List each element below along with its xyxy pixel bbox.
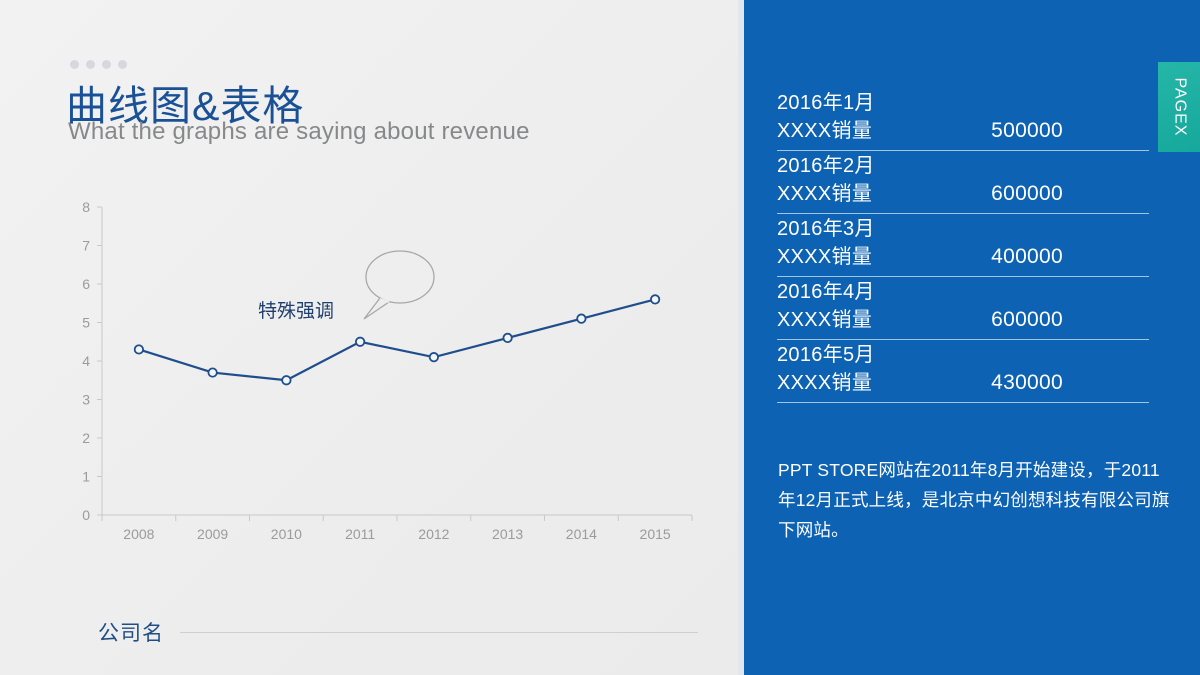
slide-canvas: 曲线图&表格 What the graphs are saying about …	[0, 0, 1200, 675]
data-point-marker	[282, 376, 290, 384]
table-row-body: XXXX销量600000	[777, 306, 1149, 334]
x-axis-tick-label: 2008	[123, 526, 154, 542]
table-row-body: XXXX销量500000	[777, 117, 1149, 145]
table-row-month: 2016年2月	[777, 153, 1149, 180]
table-row-label: XXXX销量	[777, 180, 872, 208]
table-row-month: 2016年3月	[777, 216, 1149, 243]
data-point-marker	[503, 334, 511, 342]
x-axis-tick-label: 2011	[345, 526, 375, 542]
table-row-value: 430000	[991, 369, 1063, 397]
dot-icon	[102, 60, 111, 69]
table-row-month: 2016年4月	[777, 279, 1149, 306]
y-axis-tick-label: 8	[82, 199, 90, 215]
dot-icon	[86, 60, 95, 69]
data-point-marker	[577, 314, 585, 322]
y-axis-tick-label: 0	[82, 507, 90, 523]
data-point-marker	[135, 345, 143, 353]
table-row-label: XXXX销量	[777, 306, 872, 334]
table-row-body: XXXX销量600000	[777, 180, 1149, 208]
table-row-month: 2016年5月	[777, 342, 1149, 369]
left-content-panel: 曲线图&表格 What the graphs are saying about …	[0, 0, 744, 675]
x-axis-tick-label: 2015	[640, 526, 671, 542]
company-name: 公司名	[98, 617, 164, 647]
chart-annotation-label: 特殊强调	[258, 300, 334, 322]
data-point-marker	[651, 295, 659, 303]
y-axis-tick-label: 3	[82, 392, 90, 408]
y-axis-tick-label: 7	[82, 238, 90, 254]
chart-svg: 012345678 200820092010201120122013201420…	[62, 195, 702, 545]
series-markers	[135, 295, 660, 384]
description-paragraph: PPT STORE网站在2011年8月开始建设，于2011年12月正式上线，是北…	[778, 455, 1170, 545]
x-axis-tick-label: 2012	[418, 526, 449, 542]
table-row: 2016年2月XXXX销量600000	[777, 151, 1149, 214]
table-row: 2016年1月XXXX销量500000	[777, 88, 1149, 151]
y-axis-tick-label: 1	[82, 469, 90, 485]
right-blue-panel: PAGEX 2016年1月XXXX销量5000002016年2月XXXX销量60…	[744, 0, 1200, 675]
table-row: 2016年4月XXXX销量600000	[777, 277, 1149, 340]
table-row-value: 600000	[991, 180, 1063, 208]
table-row-value: 600000	[991, 306, 1063, 334]
x-axis-tick-label: 2014	[566, 526, 597, 542]
data-point-marker	[430, 353, 438, 361]
page-subtitle: What the graphs are saying about revenue	[68, 118, 530, 146]
dot-icon	[118, 60, 127, 69]
y-axis-tick-label: 5	[82, 315, 90, 331]
table-row-label: XXXX销量	[777, 243, 872, 271]
x-axis-tick-label: 2010	[271, 526, 302, 542]
table-row-value: 400000	[991, 243, 1063, 271]
table-row-body: XXXX销量430000	[777, 369, 1149, 397]
decorative-dots	[70, 60, 127, 69]
x-axis-tick-label: 2013	[492, 526, 523, 542]
table-row-label: XXXX销量	[777, 369, 872, 397]
x-axis-tick-label: 2009	[197, 526, 228, 542]
data-point-marker	[208, 368, 216, 376]
sales-table: 2016年1月XXXX销量5000002016年2月XXXX销量60000020…	[777, 88, 1149, 403]
table-row-month: 2016年1月	[777, 90, 1149, 117]
dot-icon	[70, 60, 79, 69]
footer: 公司名	[98, 617, 698, 647]
table-row: 2016年5月XXXX销量430000	[777, 340, 1149, 403]
page-number-tab: PAGEX	[1158, 62, 1200, 152]
table-row: 2016年3月XXXX销量400000	[777, 214, 1149, 277]
line-chart: 012345678 200820092010201120122013201420…	[62, 195, 702, 545]
y-axis-tick-label: 2	[82, 430, 90, 446]
x-axis-labels: 20082009201020112012201320142015	[123, 526, 671, 542]
y-axis-ticks	[97, 207, 102, 515]
table-row-value: 500000	[991, 117, 1063, 145]
y-axis-labels: 012345678	[82, 199, 90, 523]
x-axis-ticks	[102, 515, 692, 521]
page-tab-label: PAGEX	[1170, 78, 1188, 137]
table-row-label: XXXX销量	[777, 117, 872, 145]
speech-bubble-icon	[364, 251, 434, 319]
series-line	[139, 299, 655, 380]
y-axis-tick-label: 4	[82, 353, 90, 369]
data-point-marker	[356, 338, 364, 346]
footer-divider	[180, 632, 698, 633]
y-axis-tick-label: 6	[82, 276, 90, 292]
table-row-body: XXXX销量400000	[777, 243, 1149, 271]
